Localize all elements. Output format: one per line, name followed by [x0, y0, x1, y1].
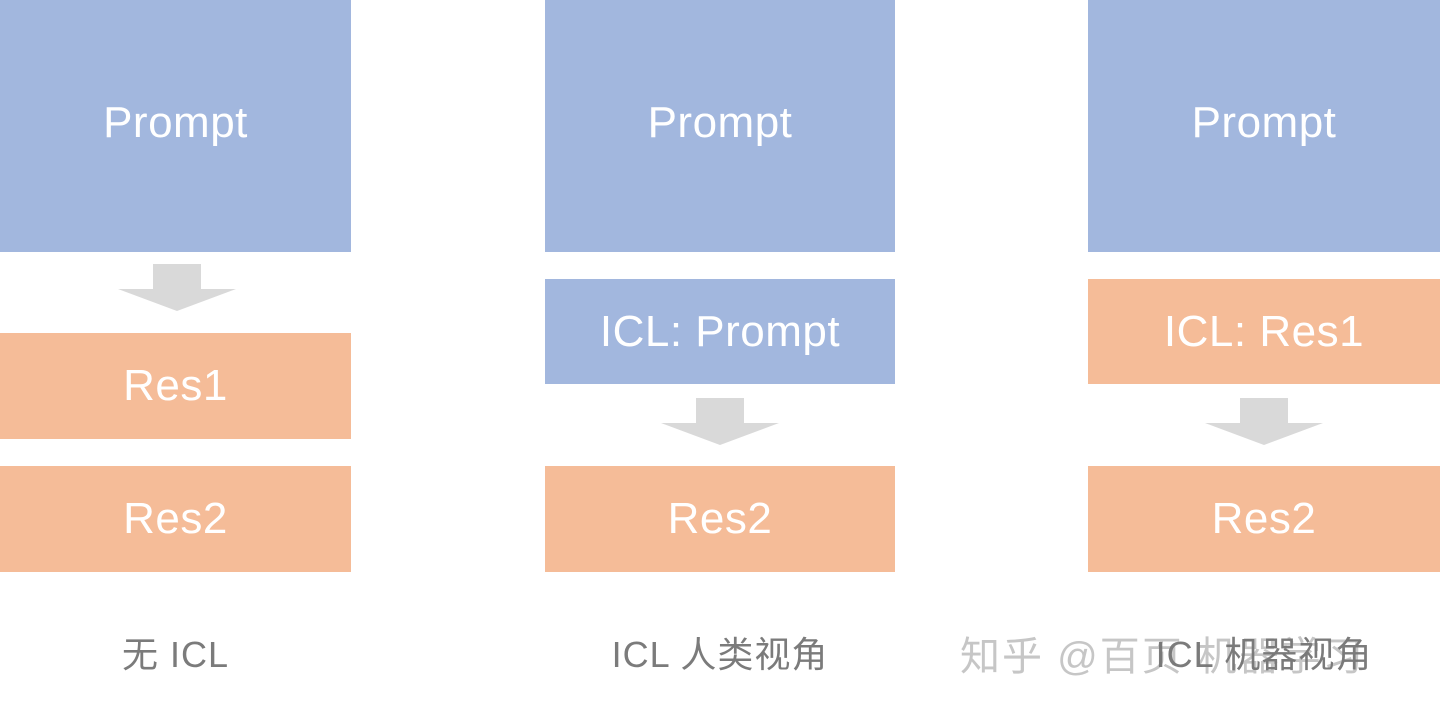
col1-res1-box: Res1: [0, 333, 351, 439]
col1-res1-label: Res1: [123, 364, 228, 408]
col3-res2-box: Res2: [1088, 466, 1440, 572]
col2-icl-prompt-label: ICL: Prompt: [600, 310, 840, 354]
col2-prompt-box: Prompt: [545, 0, 895, 252]
col3-res2-label: Res2: [1212, 497, 1317, 541]
col1-res2-box: Res2: [0, 466, 351, 572]
col3-prompt-label: Prompt: [1192, 101, 1337, 145]
diagram-canvas: Prompt Res1 Res2 无 ICL Prompt ICL: Promp…: [0, 0, 1440, 707]
col1-prompt-box: Prompt: [0, 0, 351, 252]
col2-prompt-label: Prompt: [648, 101, 793, 145]
col2-down-arrow-icon: [661, 398, 779, 445]
col2-res2-label: Res2: [668, 497, 773, 541]
col3-icl-res1-label: ICL: Res1: [1164, 310, 1364, 354]
col3-icl-res1-box: ICL: Res1: [1088, 279, 1440, 384]
col3-caption: ICL 机器视角: [1088, 622, 1440, 682]
col1-down-arrow-icon: [118, 264, 236, 311]
col3-down-arrow-icon: [1205, 398, 1323, 445]
col1-res2-label: Res2: [123, 497, 228, 541]
col3-prompt-box: Prompt: [1088, 0, 1440, 252]
col1-caption: 无 ICL: [0, 622, 351, 682]
col1-prompt-label: Prompt: [103, 101, 248, 145]
col2-caption: ICL 人类视角: [545, 622, 895, 682]
col2-res2-box: Res2: [545, 466, 895, 572]
col2-icl-prompt-box: ICL: Prompt: [545, 279, 895, 384]
